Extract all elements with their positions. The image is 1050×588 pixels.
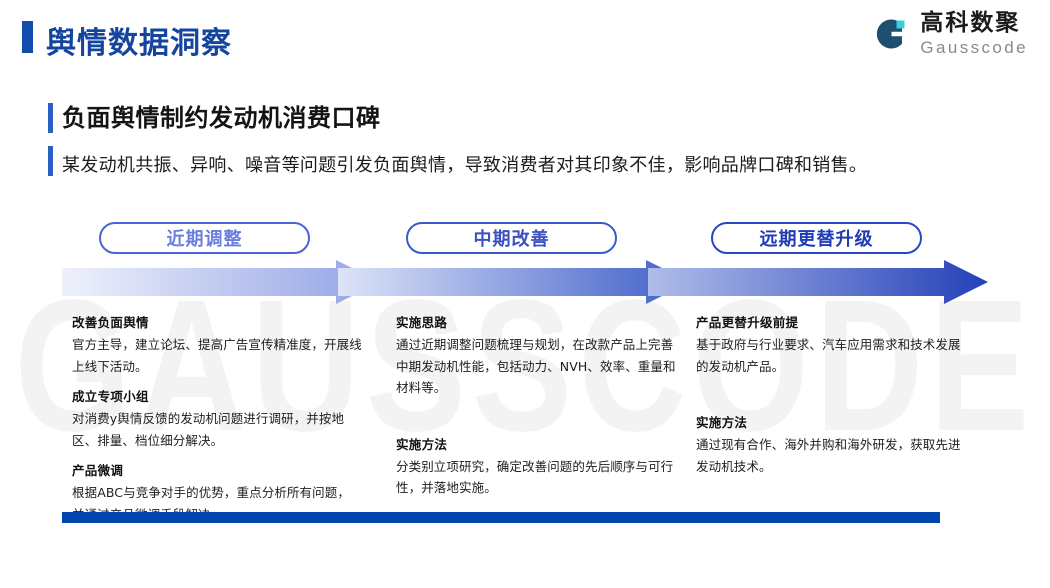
- logo-name-cn: 高科数聚: [920, 12, 1028, 35]
- header-accent-bar: [22, 21, 33, 53]
- column-near-term: 改善负面舆情 官方主导，建立论坛、提高广告宣传精准度，开展线上线下活动。 成立专…: [72, 312, 362, 534]
- detail-block: 改善负面舆情 官方主导，建立论坛、提高广告宣传精准度，开展线上线下活动。: [72, 312, 362, 377]
- detail-body: 基于政府与行业要求、汽车应用需求和技术发展的发动机产品。: [696, 334, 971, 377]
- page-header: 舆情数据洞察 高科数聚 Gausscode: [0, 0, 1050, 72]
- detail-block: 实施方法 通过现有合作、海外并购和海外研发，获取先进发动机技术。: [696, 412, 971, 477]
- column-spacer: [396, 408, 676, 434]
- detail-body: 分类别立项研究，确定改善问题的先后顺序与可行性，并落地实施。: [396, 456, 676, 499]
- detail-heading: 成立专项小组: [72, 386, 362, 405]
- detail-block: 成立专项小组 对消费y舆情反馈的发动机问题进行调研，并按地区、排量、档位细分解决…: [72, 386, 362, 451]
- sub-title-accent: [48, 146, 53, 176]
- stage-pill-long-term[interactable]: 远期更替升级: [711, 222, 922, 254]
- detail-body: 对消费y舆情反馈的发动机问题进行调研，并按地区、排量、档位细分解决。: [72, 408, 362, 451]
- column-spacer: [696, 386, 971, 412]
- gausscode-g-logo-icon: [871, 14, 911, 54]
- column-long-term: 产品更替升级前提 基于政府与行业要求、汽车应用需求和技术发展的发动机产品。 实施…: [696, 312, 971, 486]
- sub-title: 某发动机共振、异响、噪音等问题引发负面舆情，导致消费者对其印象不佳，影响品牌口碑…: [62, 151, 867, 177]
- detail-heading: 产品更替升级前提: [696, 312, 971, 331]
- title-block: 负面舆情制约发动机消费口碑 某发动机共振、异响、噪音等问题引发负面舆情，导致消费…: [62, 98, 867, 177]
- logo-name-en: Gausscode: [920, 39, 1028, 56]
- main-title-accent: [48, 103, 53, 133]
- detail-body: 通过现有合作、海外并购和海外研发，获取先进发动机技术。: [696, 434, 971, 477]
- detail-block: 实施方法 分类别立项研究，确定改善问题的先后顺序与可行性，并落地实施。: [396, 434, 676, 499]
- right-arrow-progression-icon: [0, 258, 1050, 306]
- detail-body: 官方主导，建立论坛、提高广告宣传精准度，开展线上线下活动。: [72, 334, 362, 377]
- footer-bar: [62, 512, 940, 523]
- detail-block: 产品更替升级前提 基于政府与行业要求、汽车应用需求和技术发展的发动机产品。: [696, 312, 971, 377]
- page-title: 舆情数据洞察: [46, 18, 232, 62]
- detail-heading: 改善负面舆情: [72, 312, 362, 331]
- stage-pill-mid-term[interactable]: 中期改善: [406, 222, 617, 254]
- detail-body: 通过近期调整问题梳理与规划，在改款产品上完善中期发动机性能，包括动力、NVH、效…: [396, 334, 676, 399]
- detail-block: 实施思路 通过近期调整问题梳理与规划，在改款产品上完善中期发动机性能，包括动力、…: [396, 312, 676, 399]
- brand-logo: 高科数聚 Gausscode: [871, 12, 1028, 56]
- stage-pill-near-term[interactable]: 近期调整: [99, 222, 310, 254]
- column-mid-term: 实施思路 通过近期调整问题梳理与规划，在改款产品上完善中期发动机性能，包括动力、…: [396, 312, 676, 508]
- main-title: 负面舆情制约发动机消费口碑: [62, 98, 867, 133]
- detail-heading: 实施方法: [396, 434, 676, 453]
- detail-heading: 产品微调: [72, 460, 362, 479]
- detail-heading: 实施方法: [696, 412, 971, 431]
- detail-heading: 实施思路: [396, 312, 676, 331]
